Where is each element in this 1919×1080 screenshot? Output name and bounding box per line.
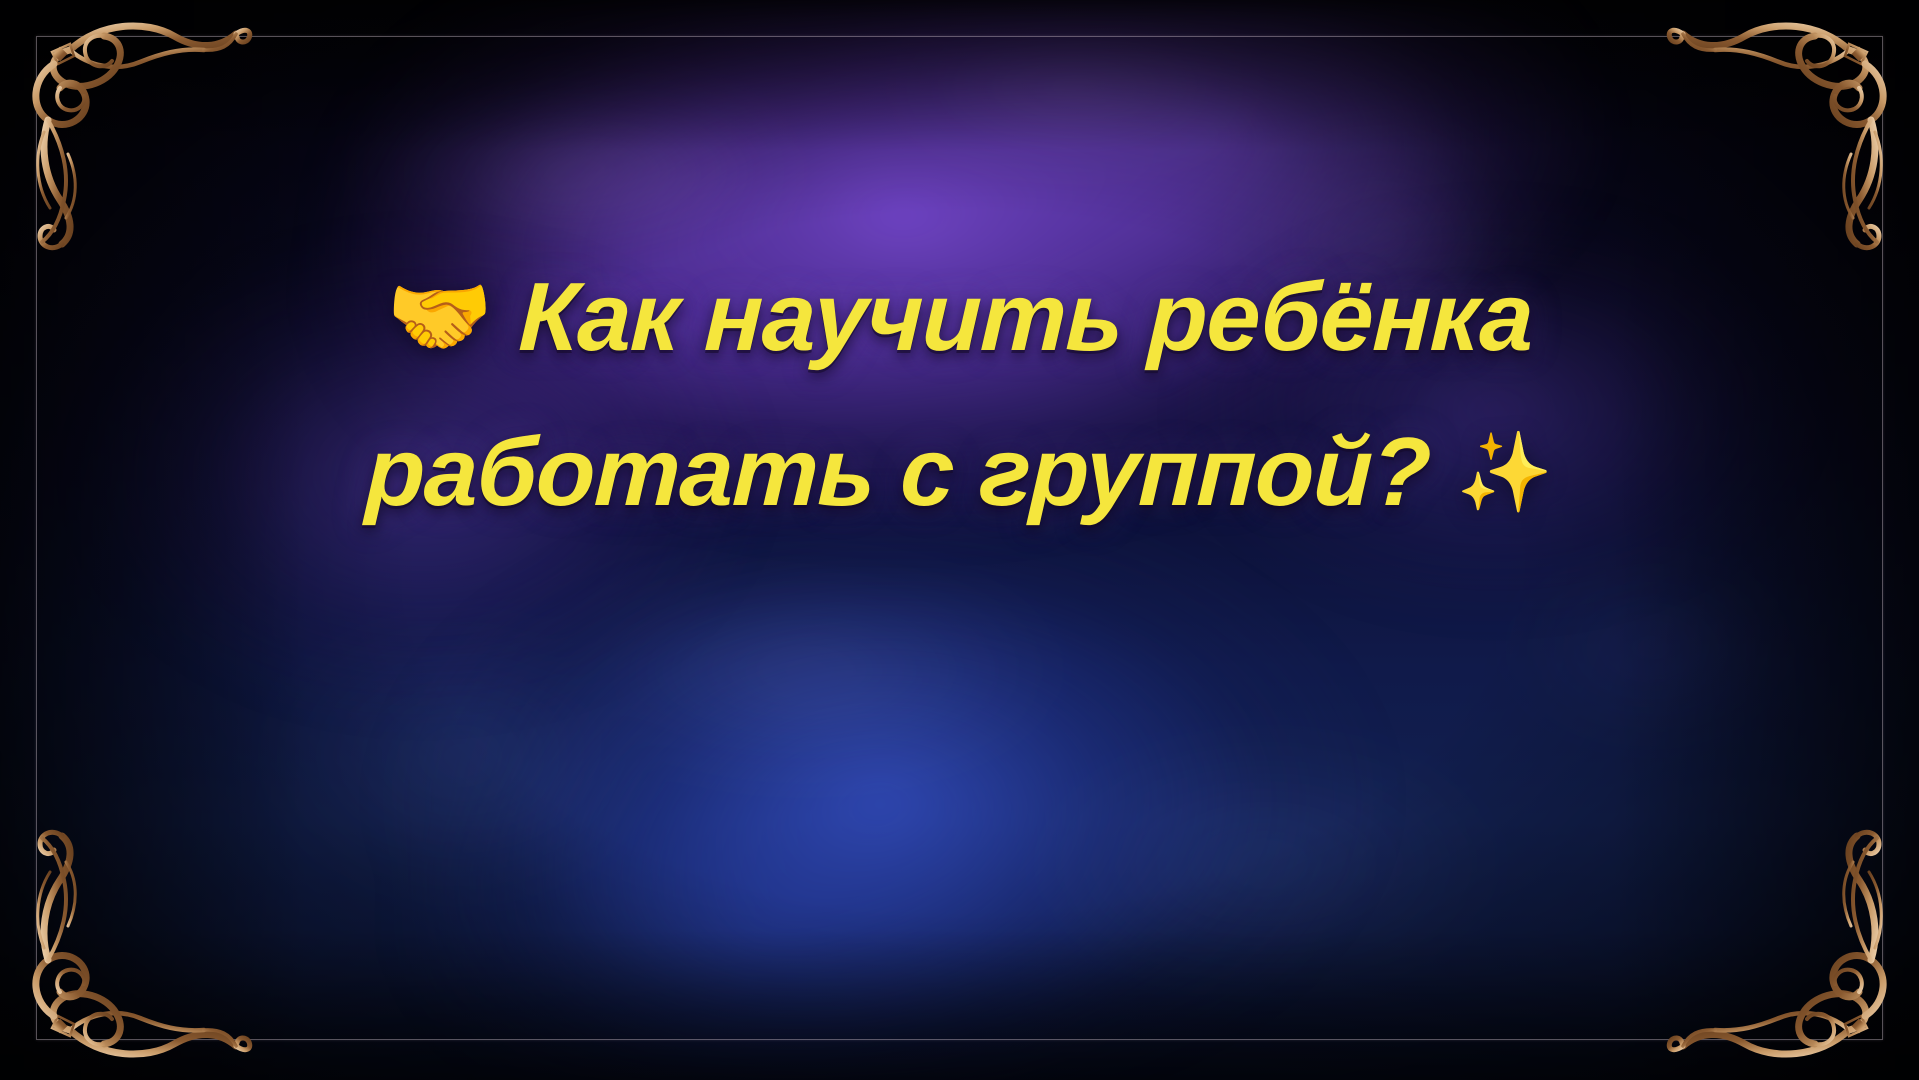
vignette-overlay: [0, 0, 1919, 1080]
sparkles-emoji-icon: ✨: [1456, 433, 1553, 511]
title-slide: 🤝 Как научить ребёнка работать с группой…: [0, 0, 1919, 1080]
title-line-1: 🤝 Как научить ребёнка: [386, 268, 1533, 365]
blue-glow-layer: [0, 0, 1919, 1080]
corner-ornament-bottom-left-icon: [8, 826, 258, 1076]
slide-title: 🤝 Как научить ребёнка работать с группой…: [0, 268, 1919, 520]
title-line-2: работать с группой? ✨: [366, 423, 1553, 520]
handshake-emoji-icon: 🤝: [386, 274, 493, 360]
purple-smoke-bloom: [0, 0, 1919, 1080]
violet-haze-layer: [0, 0, 1919, 1080]
title-line-2-text: работать с группой?: [364, 423, 1431, 520]
corner-ornament-top-left-icon: [8, 4, 258, 254]
smoke-texture-layer: [0, 0, 1919, 1080]
corner-ornament-top-right-icon: [1661, 4, 1911, 254]
title-line-1-text: Как научить ребёнка: [517, 268, 1534, 365]
background-base-gradient: [0, 0, 1919, 1080]
corner-ornament-bottom-right-icon: [1661, 826, 1911, 1076]
decorative-frame-border: [36, 36, 1883, 1040]
